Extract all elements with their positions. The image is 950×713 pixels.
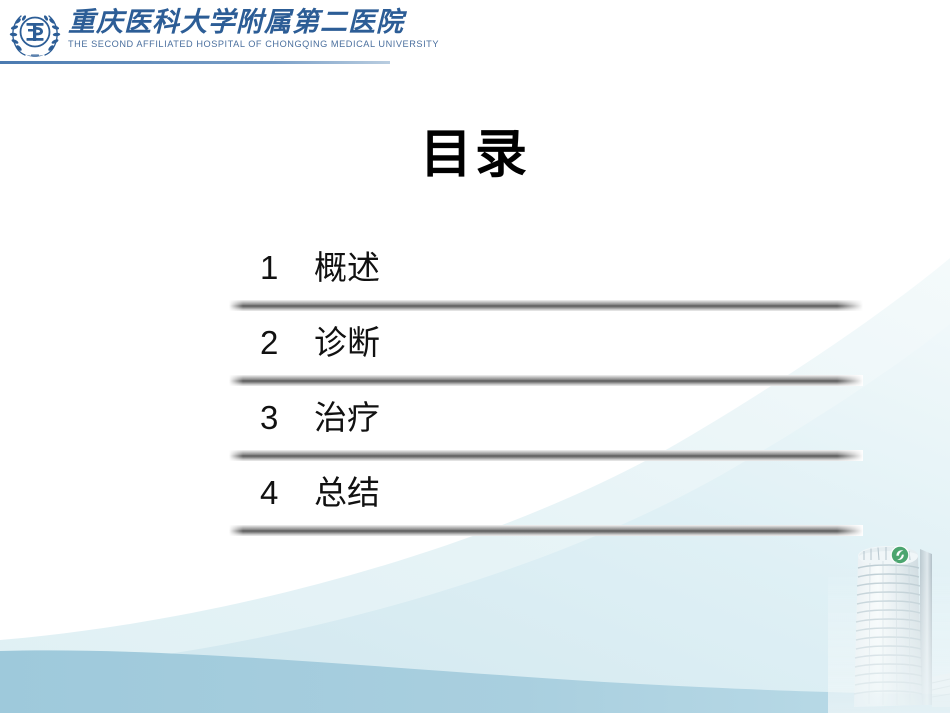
- agenda-item-text: 1概述: [260, 249, 380, 288]
- agenda-item-label: 概述: [314, 249, 380, 286]
- agenda-item-number: 2: [260, 324, 280, 363]
- presentation-slide: 重庆医科大学附属第二医院 THE SECOND AFFILIATED HOSPI…: [0, 0, 950, 713]
- agenda-divider-bar: [229, 375, 863, 386]
- list-item[interactable]: 1概述: [229, 249, 863, 311]
- agenda-divider-bar: [229, 300, 863, 311]
- agenda-item-label: 治疗: [314, 399, 380, 436]
- agenda-item-number: 4: [260, 474, 280, 513]
- agenda-item-label: 总结: [314, 474, 380, 511]
- agenda-divider-bar: [229, 450, 863, 461]
- agenda-item-number: 3: [260, 399, 280, 438]
- agenda-item-label: 诊断: [314, 324, 380, 361]
- agenda-item-number: 1: [260, 249, 280, 288]
- agenda-item-text: 3治疗: [260, 399, 380, 438]
- list-item[interactable]: 2诊断: [229, 324, 863, 386]
- agenda-list: 1概述 2诊断 3治疗 4总结: [0, 0, 950, 713]
- agenda-item-text: 2诊断: [260, 324, 380, 363]
- list-item[interactable]: 3治疗: [229, 399, 863, 461]
- agenda-divider-bar: [229, 525, 863, 536]
- agenda-item-text: 4总结: [260, 474, 380, 513]
- list-item[interactable]: 4总结: [229, 474, 863, 536]
- hospital-tower-watermark-icon: [828, 527, 950, 713]
